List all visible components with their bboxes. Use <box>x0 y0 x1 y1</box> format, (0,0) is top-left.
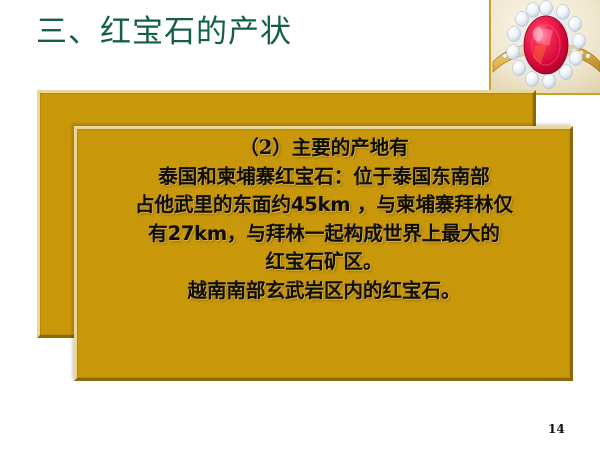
distance-value-45km: 45km <box>291 193 350 216</box>
body-line-3-part-b: ，与柬埔寨拜林仅 <box>350 193 513 216</box>
body-line-2: 泰国和柬埔寨红宝石：位于泰国东南部 <box>76 163 572 192</box>
ruby-ring-illustration <box>491 0 600 95</box>
slide-body-text: （2）主要的产地有 泰国和柬埔寨红宝石：位于泰国东南部 占他武里的东面约45km… <box>76 134 572 305</box>
ruby-ring-photo <box>489 0 600 95</box>
distance-value-27km: 27km <box>168 222 227 245</box>
body-line-heading: （2）主要的产地有 <box>76 134 572 163</box>
body-line-4-part-a: 有 <box>148 222 168 245</box>
page-title: 三、红宝石的产状 <box>36 12 292 52</box>
body-line-3: 占他武里的东面约45km ，与柬埔寨拜林仅 <box>76 191 572 220</box>
body-line-4-part-b: ，与拜林一起构成世界上最大的 <box>227 222 500 245</box>
body-line-6: 越南南部玄武岩区内的红宝石。 <box>76 277 572 306</box>
body-line-4: 有27km，与拜林一起构成世界上最大的 <box>76 220 572 249</box>
body-line-3-part-a: 占他武里的东面约 <box>135 193 291 216</box>
page-number: 14 <box>548 422 565 436</box>
body-line-5: 红宝石矿区。 <box>76 248 572 277</box>
